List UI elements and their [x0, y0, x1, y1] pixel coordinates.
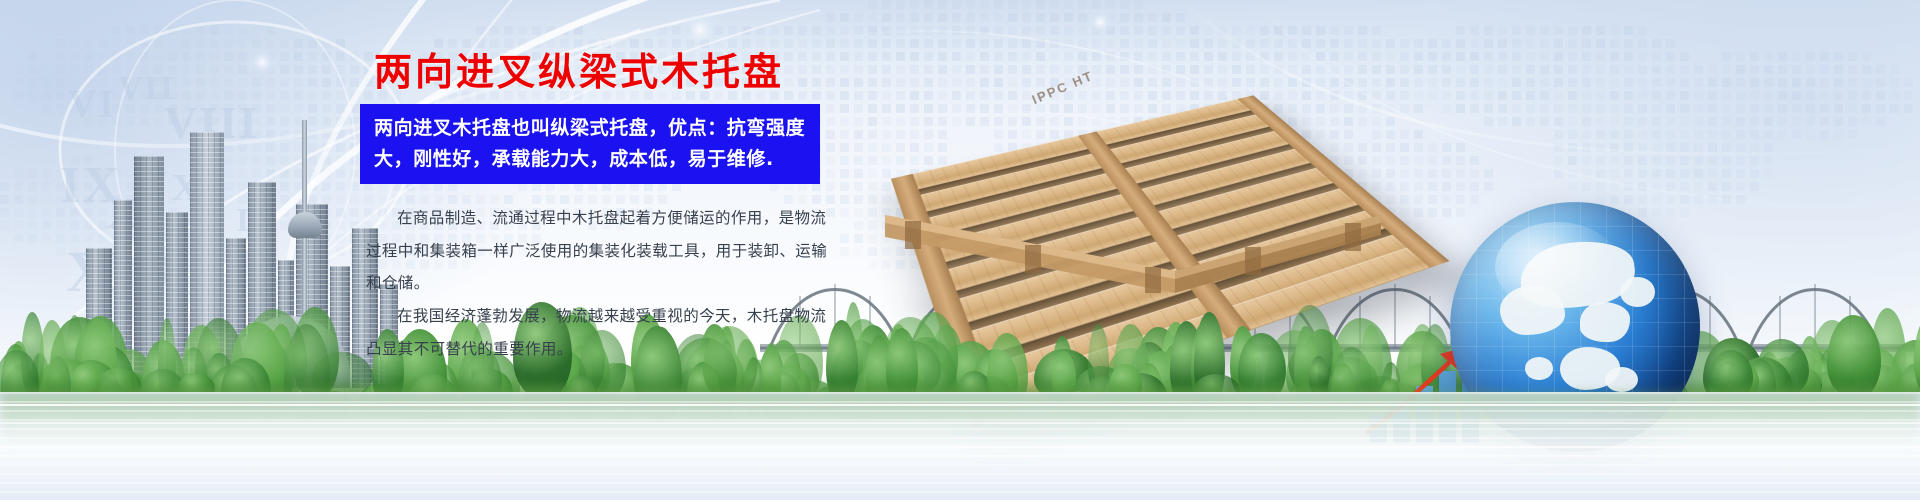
- callout-line-1: 两向进叉木托盘也叫纵梁式托盘，优点：抗弯强度: [374, 113, 808, 144]
- wooden-pallet-photo: IPPC HT: [845, 55, 1415, 325]
- tree: [107, 349, 152, 398]
- product-banner: VIVIIVIIIIXXXIXIIIII: [0, 0, 1920, 500]
- roman-numeral: VIII: [164, 96, 259, 149]
- globe-highlight: [1495, 222, 1620, 312]
- tree: [1230, 326, 1256, 397]
- body-copy: 在商品制造、流通过程中木托盘起着方便储运的作用，是物流过程中和集装箱一样广泛使用…: [366, 202, 836, 365]
- roman-numeral: XII: [66, 238, 159, 305]
- tree: [292, 307, 339, 400]
- tv-tower: [302, 120, 307, 388]
- tree: [1870, 308, 1906, 400]
- tree: [21, 312, 44, 398]
- roman-numeral: IX: [60, 156, 122, 215]
- copy-block: 两向进叉纵梁式木托盘 两向进叉木托盘也叫纵梁式托盘，优点：抗弯强度 大，刚性好，…: [360, 52, 860, 365]
- body-paragraph: 在商品制造、流通过程中木托盘起着方便储运的作用，是物流过程中和集装箱一样广泛使用…: [366, 202, 836, 300]
- roman-numeral: XI: [172, 166, 218, 210]
- pallet-ippc-stamp: IPPC HT: [1030, 68, 1096, 107]
- tree: [81, 319, 117, 403]
- banner-title: 两向进叉纵梁式木托盘: [374, 52, 860, 94]
- callout-line-2: 大，刚性好，承载能力大，成本低，易于维修.: [374, 144, 808, 175]
- tree: [50, 317, 111, 402]
- tree: [1817, 342, 1873, 397]
- roman-numeral: VII: [118, 70, 175, 108]
- water-reflection: [0, 392, 1920, 500]
- highlight-callout-box: 两向进叉木托盘也叫纵梁式托盘，优点：抗弯强度 大，刚性好，承载能力大，成本低，易…: [360, 104, 820, 185]
- tree: [261, 330, 281, 399]
- tree: [1827, 315, 1881, 400]
- roman-numeral: X: [106, 188, 140, 239]
- tree: [1309, 356, 1329, 397]
- tree: [1914, 317, 1920, 396]
- roman-numeral: I: [156, 246, 174, 293]
- roman-numeral: VI: [68, 80, 116, 127]
- tree: [1756, 339, 1809, 397]
- tower-sphere: [288, 212, 322, 238]
- tree: [243, 309, 307, 405]
- roman-numeral: II: [236, 202, 266, 240]
- stadium-dome: [230, 316, 350, 388]
- body-paragraph: 在我国经济蓬勃发展，物流越来越受重视的今天，木托盘物流凸显其不可替代的重要作用。: [366, 300, 836, 365]
